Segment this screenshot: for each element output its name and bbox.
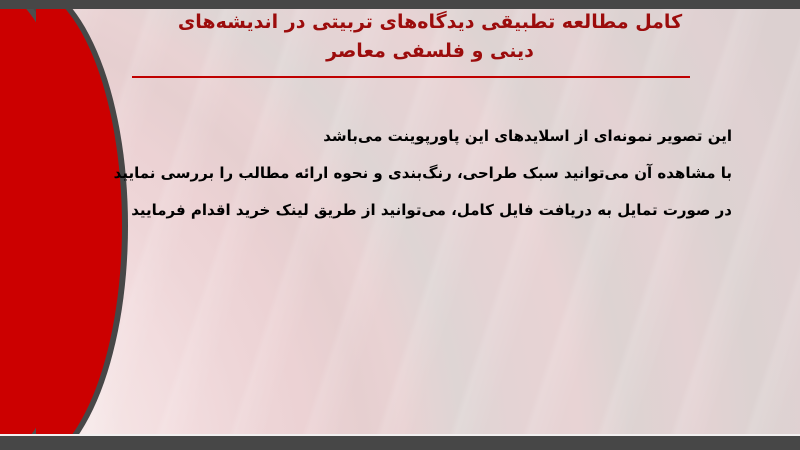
title-divider [132,76,690,78]
body-line-3: در صورت تمایل به دریافت فایل کامل، می‌تو… [72,192,732,229]
slide-body-text: این تصویر نمونه‌ای از اسلایدهای این پاور… [72,118,732,229]
title-line-1: کامل مطالعه تطبیقی دیدگاه‌های تربیتی در … [100,8,760,37]
title-line-2: دینی و فلسفی معاصر [100,37,760,66]
slide-frame-bottom [0,436,800,450]
body-line-2: با مشاهده آن می‌توانید سبک طراحی، رنگ‌بن… [72,155,732,192]
slide-title: کامل مطالعه تطبیقی دیدگاه‌های تربیتی در … [100,8,760,66]
presentation-slide: کامل مطالعه تطبیقی دیدگاه‌های تربیتی در … [0,0,800,450]
body-line-1: این تصویر نمونه‌ای از اسلایدهای این پاور… [72,118,732,155]
